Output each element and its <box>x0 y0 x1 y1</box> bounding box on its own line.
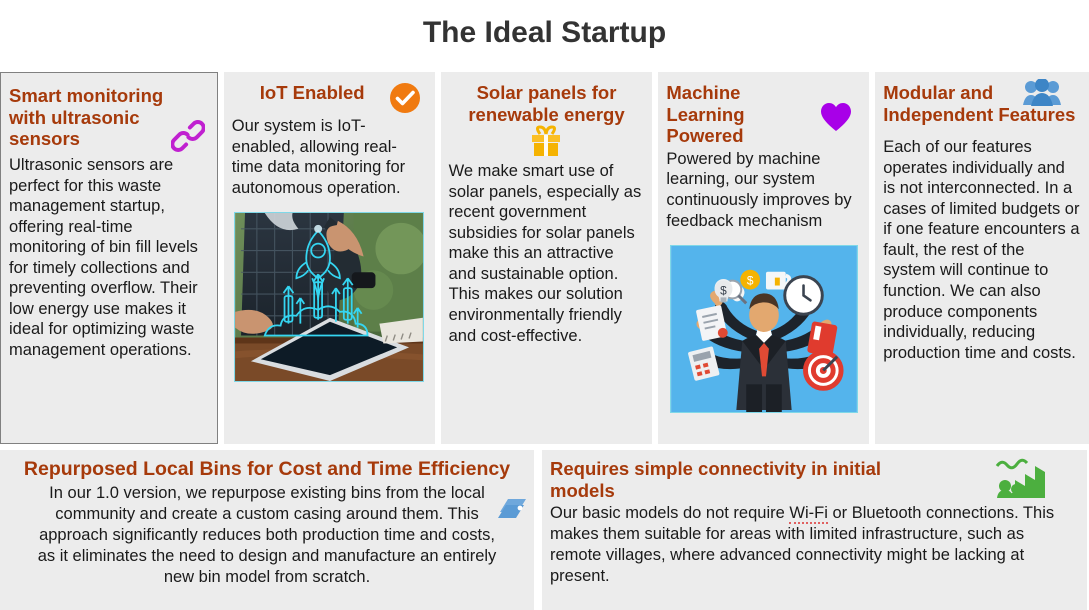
feature-card-simple-connectivity[interactable]: Requires simple connectivity in initial … <box>542 450 1087 610</box>
check-circle-icon <box>389 82 421 114</box>
card-body: We make smart use of solar panels, espec… <box>449 161 645 346</box>
card-icon-row <box>449 125 645 159</box>
card-heading-row: IoT Enabled <box>232 82 427 114</box>
card-heading: Machine Learning Powered <box>666 82 816 147</box>
feature-card-solar-panels[interactable]: Solar panels for renewable energy We mak… <box>441 72 653 444</box>
feature-card-row-top: Smart monitoring with ultrasonic sensors… <box>0 72 1089 444</box>
card-body: Our system is IoT-enabled, allowing real… <box>232 116 427 198</box>
svg-text:$: $ <box>747 274 754 288</box>
purple-heart-icon <box>820 102 852 132</box>
card-body: Our basic models do not require Wi-Fi or… <box>550 503 1079 586</box>
factory-icon <box>995 458 1047 500</box>
feature-card-iot-enabled[interactable]: IoT Enabled Our system is IoT-enabled, a… <box>224 72 435 444</box>
card-text-panel: Requires simple connectivity in initial … <box>542 450 1087 592</box>
card-image-container <box>230 210 429 444</box>
card-heading: Repurposed Local Bins for Cost and Time … <box>10 458 524 481</box>
card-image-container: $ $ <box>664 243 863 444</box>
card-heading-row: Smart monitoring with ultrasonic sensors <box>9 85 209 153</box>
feature-card-machine-learning[interactable]: Machine Learning Powered Powered by mach… <box>658 72 869 444</box>
card-heading: Requires simple connectivity in initial … <box>550 458 950 501</box>
feature-card-row-bottom: Repurposed Local Bins for Cost and Time … <box>0 450 1089 610</box>
tag-icon <box>498 496 528 522</box>
feature-card-smart-monitoring[interactable]: Smart monitoring with ultrasonic sensors… <box>0 72 218 444</box>
card-body: In our 1.0 version, we repurpose existin… <box>10 483 524 589</box>
feature-card-repurposed-bins[interactable]: Repurposed Local Bins for Cost and Time … <box>0 450 534 610</box>
people-group-icon <box>1023 79 1061 107</box>
page-title: The Ideal Startup <box>0 16 1089 50</box>
feature-card-modular-features[interactable]: Modular and Independent Features Each of… <box>875 72 1089 444</box>
card-text-panel: IoT Enabled Our system is IoT-enabled, a… <box>224 72 435 204</box>
card-text-panel: Smart monitoring with ultrasonic sensors… <box>1 73 217 366</box>
card-heading-row: Machine Learning Powered <box>666 82 861 147</box>
link-icon <box>171 119 205 153</box>
card-text-panel: Solar panels for renewable energy We mak… <box>441 72 653 352</box>
spellcheck-word: Wi-Fi <box>789 504 827 524</box>
card-heading: IoT Enabled <box>232 82 389 104</box>
card-heading-row: Modular and Independent Features <box>883 82 1081 125</box>
card-body-part1: Our basic models do not require <box>550 504 789 522</box>
rocket-hologram-tablet-photo <box>234 212 424 382</box>
card-heading: Solar panels for renewable energy <box>449 82 645 125</box>
card-text-panel: Modular and Independent Features Each of… <box>875 72 1089 369</box>
multitasking-businessman-illustration: $ $ <box>670 245 858 413</box>
card-heading: Smart monitoring with ultrasonic sensors <box>9 85 177 150</box>
card-text-panel: Repurposed Local Bins for Cost and Time … <box>0 450 534 594</box>
card-body: Powered by machine learning, our system … <box>666 149 861 231</box>
svg-text:$: $ <box>720 283 727 297</box>
card-body: Each of our features operates individual… <box>883 137 1081 363</box>
card-text-panel: Machine Learning Powered Powered by mach… <box>658 72 869 237</box>
card-body: Ultrasonic sensors are perfect for this … <box>9 155 209 360</box>
gift-icon <box>529 125 563 159</box>
slide-canvas: The Ideal Startup Smart monitoring with … <box>0 0 1089 610</box>
